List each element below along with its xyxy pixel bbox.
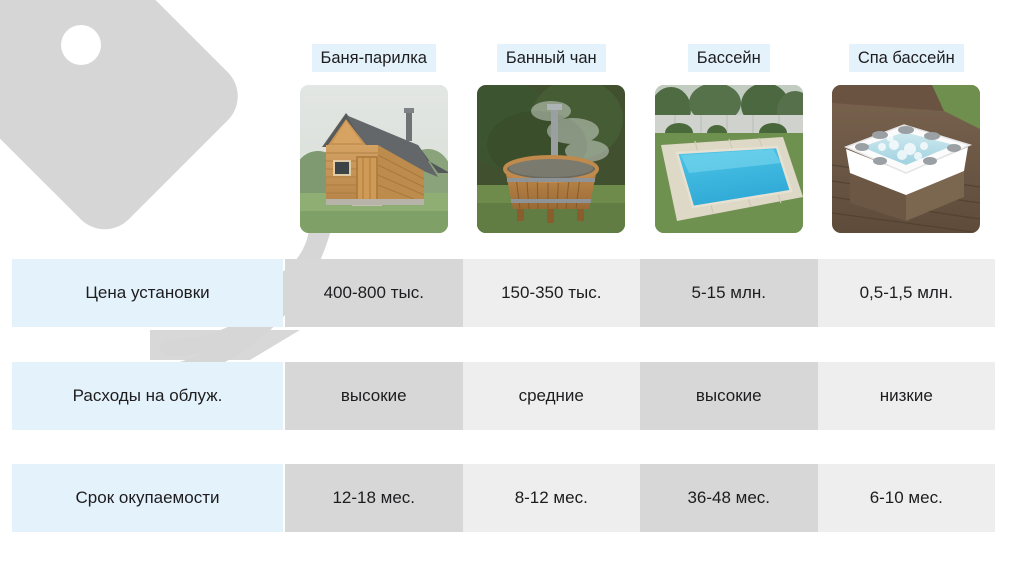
- column-header-cell: Банный чан: [463, 44, 641, 72]
- cell-price-basseyn: 5-15 млн.: [640, 259, 818, 327]
- column-header-cell: Баня-парилка: [285, 44, 463, 72]
- spa-hot-tub-photo: [832, 85, 980, 233]
- cell-maintenance-basseyn: высокие: [640, 362, 818, 430]
- column-image-row: [285, 85, 995, 233]
- cell-price-chan: 150-350 тыс.: [463, 259, 641, 327]
- column-header-cell: Спа бассейн: [818, 44, 996, 72]
- column-header-row: Баня-парилка Банный чан Бассейн Спа басс…: [285, 44, 995, 72]
- log-sauna-cabin-photo: [300, 85, 448, 233]
- row-label-payback: Срок окупаемости: [12, 464, 283, 532]
- row-values: 12-18 мес. 8-12 мес. 36-48 мес. 6-10 мес…: [285, 464, 995, 532]
- cell-price-banya: 400-800 тыс.: [285, 259, 463, 327]
- cell-payback-chan: 8-12 мес.: [463, 464, 641, 532]
- image-cell: [818, 85, 996, 233]
- cell-payback-spa: 6-10 мес.: [818, 464, 996, 532]
- row-label-price: Цена установки: [12, 259, 283, 327]
- table-row: Расходы на облуж. высокие средние высоки…: [0, 362, 1024, 430]
- cell-payback-banya: 12-18 мес.: [285, 464, 463, 532]
- table-row: Срок окупаемости 12-18 мес. 8-12 мес. 36…: [0, 464, 1024, 532]
- table-row: Цена установки 400-800 тыс. 150-350 тыс.…: [0, 259, 1024, 327]
- outdoor-swimming-pool-photo: [655, 85, 803, 233]
- cell-payback-basseyn: 36-48 мес.: [640, 464, 818, 532]
- row-values: 400-800 тыс. 150-350 тыс. 5-15 млн. 0,5-…: [285, 259, 995, 327]
- cell-maintenance-chan: средние: [463, 362, 641, 430]
- image-cell: [463, 85, 641, 233]
- cell-maintenance-banya: высокие: [285, 362, 463, 430]
- row-label-maintenance: Расходы на облуж.: [12, 362, 283, 430]
- column-header-spa-basseyn: Спа бассейн: [849, 44, 964, 72]
- column-header-cell: Бассейн: [640, 44, 818, 72]
- wooden-hot-tub-photo: [477, 85, 625, 233]
- column-header-basseyn: Бассейн: [688, 44, 770, 72]
- image-cell: [640, 85, 818, 233]
- comparison-infographic: Баня-парилка Банный чан Бассейн Спа басс…: [0, 0, 1024, 579]
- column-header-banya-parilka: Баня-парилка: [312, 44, 436, 72]
- row-values: высокие средние высокие низкие: [285, 362, 995, 430]
- image-cell: [285, 85, 463, 233]
- cell-price-spa: 0,5-1,5 млн.: [818, 259, 996, 327]
- cell-maintenance-spa: низкие: [818, 362, 996, 430]
- column-header-banny-chan: Банный чан: [497, 44, 606, 72]
